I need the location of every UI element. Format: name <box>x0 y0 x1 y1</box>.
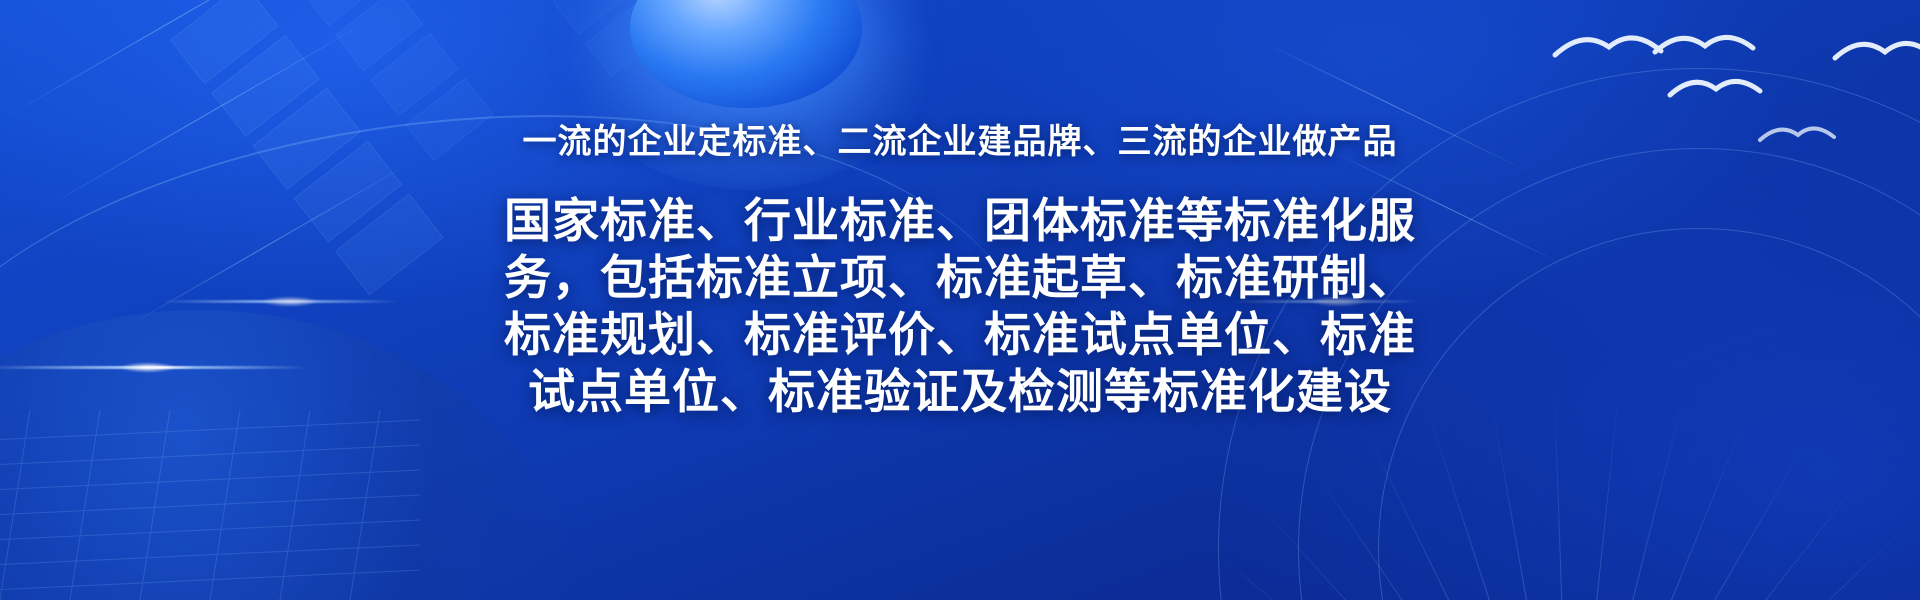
diagonal-accent-line <box>250 0 675 13</box>
banner-headline: 一流的企业定标准、二流企业建品牌、三流的企业做产品 <box>0 114 1920 163</box>
diagonal-accent-line <box>430 0 779 1</box>
diagonal-film-strip-blocks-tertiary <box>520 0 671 85</box>
banner-body-text: 国家标准、行业标准、团体标准等标准化服 务，包括标准立项、标准起草、标准研制、 … <box>0 192 1920 420</box>
diagonal-accent-line <box>0 0 364 121</box>
bottom-grid-hatch <box>0 410 420 600</box>
body-line: 务，包括标准立项、标准起草、标准研制、 <box>0 249 1920 306</box>
ellipse-dome-shape <box>630 0 862 108</box>
banner-canvas: 一流的企业定标准、二流企业建品牌、三流的企业做产品 国家标准、行业标准、团体标准… <box>0 0 1920 600</box>
body-line: 试点单位、标准验证及检测等标准化建设 <box>0 363 1920 420</box>
body-line: 标准规划、标准评价、标准试点单位、标准 <box>0 306 1920 363</box>
body-line: 国家标准、行业标准、团体标准等标准化服 <box>0 192 1920 249</box>
